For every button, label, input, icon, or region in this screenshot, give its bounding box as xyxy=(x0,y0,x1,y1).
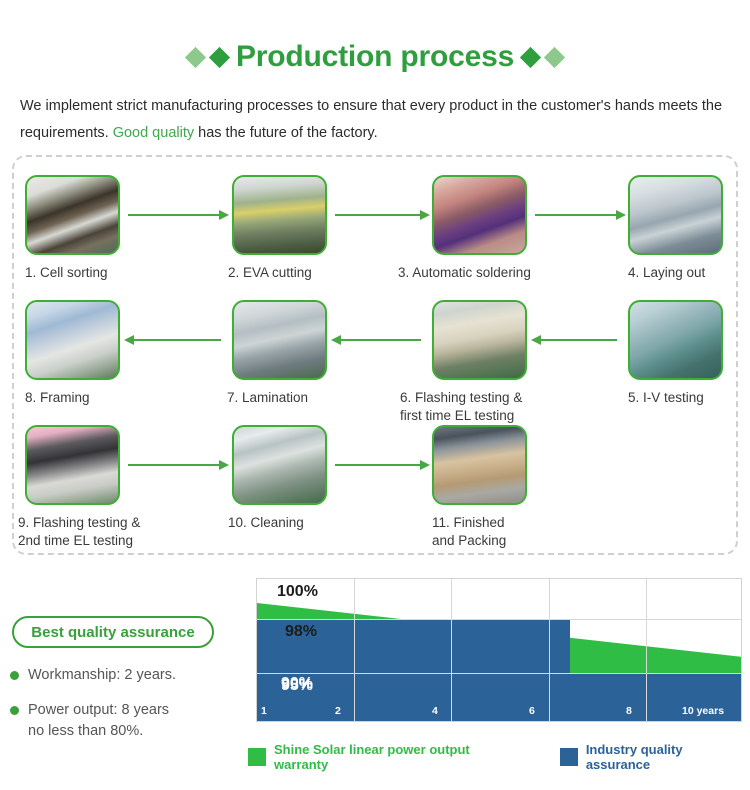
cleaning-photo xyxy=(232,425,327,505)
chart-xtick-3: 4 xyxy=(432,705,438,717)
page-title-row: Production process xyxy=(0,42,750,72)
list-item: Power output: 8 years no less than 80%. xyxy=(10,700,240,742)
legend-item-shine-solar: Shine Solar linear power output warranty xyxy=(248,742,524,772)
process-step-label-8: 8. Framing xyxy=(25,389,245,407)
flow-arrow-right-3 xyxy=(535,214,617,216)
process-step-label-3: 3. Automatic soldering xyxy=(398,264,618,282)
flow-arrow-right-2 xyxy=(335,214,421,216)
process-step-2[interactable]: 2. EVA cutting xyxy=(232,175,327,255)
legend-swatch-green xyxy=(248,748,266,766)
bullet-dot-icon xyxy=(10,671,19,680)
chart-ytick-2: 98% xyxy=(285,623,317,641)
cell-sorting-photo xyxy=(25,175,120,255)
iv-testing-photo xyxy=(628,300,723,380)
chart-gridline-horizontal-2 xyxy=(257,673,741,674)
process-step-label-1: 1. Cell sorting xyxy=(25,264,245,282)
diamond-dark-icon-right-inner xyxy=(520,46,541,67)
second-el-testing-photo xyxy=(25,425,120,505)
flow-arrow-left-6 xyxy=(133,339,221,341)
chart-ytick-1: 100% xyxy=(277,583,318,601)
chart-legend: Shine Solar linear power output warranty… xyxy=(248,742,748,772)
legend-swatch-blue xyxy=(560,748,578,766)
chart-xtick-2: 2 xyxy=(335,705,341,717)
diamond-light-icon-left-outer xyxy=(185,46,206,67)
chart-xtick-6: 10 years xyxy=(682,705,724,717)
process-step-label-5: 5. I-V testing xyxy=(628,389,750,407)
page-title: Production process xyxy=(236,42,514,72)
flow-arrow-right-8 xyxy=(335,464,421,466)
lamination-photo xyxy=(232,300,327,380)
process-step-label-10: 10. Cleaning xyxy=(228,514,448,532)
chart-block-industry-90 xyxy=(257,673,741,721)
flow-arrow-left-5 xyxy=(340,339,421,341)
diamond-light-icon-right-outer xyxy=(544,46,565,67)
process-step-9[interactable]: 9. Flashing testing & 2nd time EL testin… xyxy=(25,425,120,505)
chart-xtick-1: 1 xyxy=(261,705,267,717)
process-step-10[interactable]: 10. Cleaning xyxy=(232,425,327,505)
quality-bullet-text: Workmanship: 2 years. xyxy=(28,665,176,686)
flashing-testing-photo xyxy=(432,300,527,380)
process-step-11[interactable]: 11. Finished and Packing xyxy=(432,425,527,505)
process-step-label-11: 11. Finished and Packing xyxy=(432,514,652,550)
list-item: Workmanship: 2 years. xyxy=(10,665,240,686)
chart-ytick-4: 90% xyxy=(281,675,313,693)
finished-packing-photo xyxy=(432,425,527,505)
process-step-label-7: 7. Lamination xyxy=(227,389,447,407)
chart-gridline-vertical-2 xyxy=(451,579,452,721)
chart-gridline-vertical-3 xyxy=(549,579,550,721)
process-step-8[interactable]: 8. Framing xyxy=(25,300,120,380)
intro-paragraph: We implement strict manufacturing proces… xyxy=(20,93,732,147)
intro-text-part2: has the future of the factory. xyxy=(194,125,378,141)
chart-xtick-4: 6 xyxy=(529,705,535,717)
flow-arrow-right-1 xyxy=(128,214,220,216)
process-step-5[interactable]: 5. I-V testing xyxy=(628,300,723,380)
legend-label-shine-solar: Shine Solar linear power output warranty xyxy=(274,742,524,772)
bullet-dot-icon xyxy=(10,706,19,715)
flow-arrow-left-4 xyxy=(540,339,617,341)
process-step-4[interactable]: 4. Laying out xyxy=(628,175,723,255)
chart-xtick-5: 8 xyxy=(626,705,632,717)
eva-cutting-photo xyxy=(232,175,327,255)
process-step-7[interactable]: 7. Lamination xyxy=(232,300,327,380)
framing-photo xyxy=(25,300,120,380)
flow-arrow-right-7 xyxy=(128,464,220,466)
best-quality-assurance-badge: Best quality assurance xyxy=(12,616,214,648)
process-step-label-9: 9. Flashing testing & 2nd time EL testin… xyxy=(18,514,238,550)
process-step-3[interactable]: 3. Automatic soldering xyxy=(432,175,527,255)
legend-label-industry: Industry quality assurance xyxy=(586,742,748,772)
laying-out-photo xyxy=(628,175,723,255)
quality-bullet-list: Workmanship: 2 years. Power output: 8 ye… xyxy=(10,665,240,756)
chart-gridline-horizontal-1 xyxy=(257,619,741,620)
chart-gridline-vertical-1 xyxy=(354,579,355,721)
intro-highlight: Good quality xyxy=(113,125,194,141)
automatic-soldering-photo xyxy=(432,175,527,255)
warranty-chart: 100%98%95%90%1246810 years xyxy=(256,578,742,722)
quality-bullet-text: Power output: 8 years no less than 80%. xyxy=(28,700,169,742)
diamond-dark-icon-left-inner xyxy=(209,46,230,67)
legend-item-industry: Industry quality assurance xyxy=(560,742,748,772)
chart-plot-area: 100%98%95%90%1246810 years xyxy=(256,578,742,722)
process-step-label-4: 4. Laying out xyxy=(628,264,750,282)
process-step-1[interactable]: 1. Cell sorting xyxy=(25,175,120,255)
chart-gridline-vertical-4 xyxy=(646,579,647,721)
process-step-6[interactable]: 6. Flashing testing & first time EL test… xyxy=(432,300,527,380)
